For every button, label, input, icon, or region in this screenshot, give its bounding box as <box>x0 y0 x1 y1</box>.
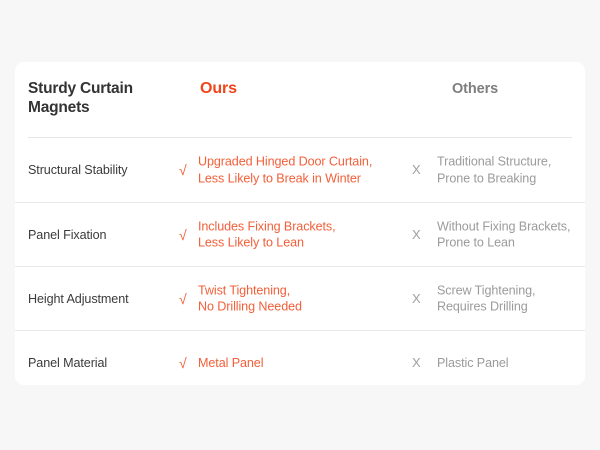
table-row: Panel Fixation √ Includes Fixing Bracket… <box>15 202 585 266</box>
cross-icon: X <box>412 355 421 371</box>
check-icon: √ <box>179 227 187 243</box>
page-background: Sturdy Curtain Magnets Ours Others Struc… <box>0 0 600 450</box>
cross-icon: X <box>412 291 421 307</box>
feature-label: Height Adjustment <box>28 291 129 307</box>
page-title: Sturdy Curtain Magnets <box>28 79 193 117</box>
ours-value: Upgraded Hinged Door Curtain, Less Likel… <box>198 154 413 187</box>
table-row: Structural Stability √ Upgraded Hinged D… <box>15 138 585 202</box>
ours-value: Includes Fixing Brackets, Less Likely to… <box>198 218 413 251</box>
others-value: Without Fixing Brackets, Prone to Lean <box>437 218 587 251</box>
column-header-ours: Ours <box>200 80 237 98</box>
others-value: Traditional Structure, Prone to Breaking <box>437 154 587 187</box>
feature-label: Structural Stability <box>28 162 128 178</box>
feature-label: Panel Material <box>28 355 107 371</box>
check-icon: √ <box>179 291 187 307</box>
ours-value: Twist Tightening, No Drilling Needed <box>198 282 413 315</box>
table-header-row: Sturdy Curtain Magnets Ours Others <box>15 62 585 138</box>
check-icon: √ <box>179 162 187 178</box>
check-icon: √ <box>179 355 187 371</box>
table-body: Structural Stability √ Upgraded Hinged D… <box>15 138 585 394</box>
comparison-card: Sturdy Curtain Magnets Ours Others Struc… <box>15 62 585 385</box>
others-value: Plastic Panel <box>437 354 587 371</box>
column-header-others: Others <box>452 81 498 97</box>
cross-icon: X <box>412 227 421 243</box>
cross-icon: X <box>412 162 421 178</box>
table-row: Height Adjustment √ Twist Tightening, No… <box>15 266 585 330</box>
others-value: Screw Tightening, Requires Drilling <box>437 282 587 315</box>
ours-value: Metal Panel <box>198 354 413 371</box>
feature-label: Panel Fixation <box>28 227 106 243</box>
table-row: Panel Material √ Metal Panel X Plastic P… <box>15 330 585 394</box>
